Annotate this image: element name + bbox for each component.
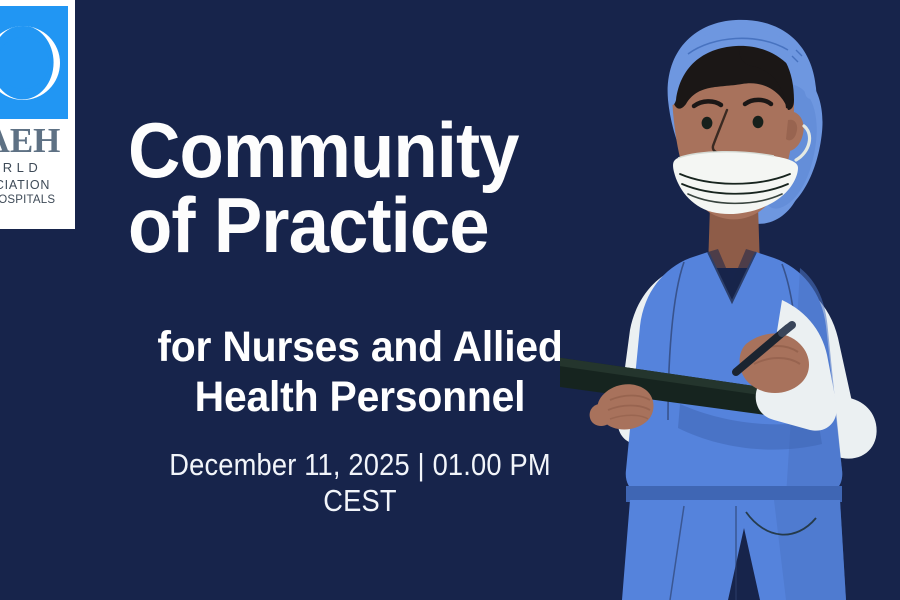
nurse-with-clipboard-illustration bbox=[560, 0, 900, 600]
page-title: Community of Practice bbox=[128, 113, 565, 263]
subhead-line-2: Health Personnel bbox=[123, 372, 598, 422]
event-datetime: December 11, 2025 | 01.00 PM CEST bbox=[140, 447, 580, 519]
headline-line-2: of Practice bbox=[128, 188, 565, 263]
waistband bbox=[626, 486, 842, 502]
webinar-banner: AEH RLD CIATION HOSPITALS Community of P… bbox=[0, 0, 900, 600]
page-subtitle: for Nurses and Allied Health Personnel bbox=[123, 322, 598, 423]
text-block: Community of Practice for Nurses and All… bbox=[0, 0, 610, 600]
headline-line-1: Community bbox=[128, 113, 565, 188]
eye-left bbox=[702, 117, 713, 129]
subhead-line-1: for Nurses and Allied bbox=[123, 322, 598, 372]
eye-right bbox=[753, 116, 764, 128]
